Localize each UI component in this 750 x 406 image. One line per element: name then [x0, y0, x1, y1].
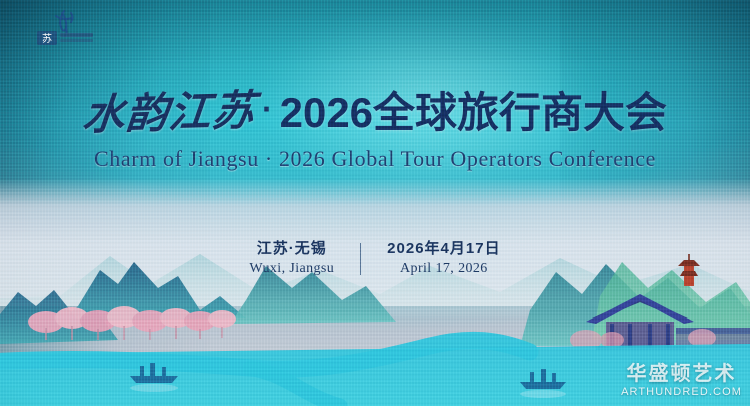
location-block: 江苏·无锡 Wuxi, Jiangsu: [249, 240, 334, 278]
event-info-row: 江苏·无锡 Wuxi, Jiangsu 2026年4月17日 April 17,…: [0, 240, 750, 278]
logo-seal: 苏: [37, 31, 57, 45]
location-cn: 江苏·无锡: [249, 240, 334, 259]
location-en: Wuxi, Jiangsu: [249, 260, 334, 278]
headline-block: 水韵江苏 · 2026全球旅行商大会 Charm of Jiangsu · 20…: [0, 92, 750, 172]
main-title-row: 水韵江苏 · 2026全球旅行商大会: [0, 92, 750, 134]
jiangsu-tourism-logo: 苏: [31, 7, 97, 49]
date-block: 2026年4月17日 April 17, 2026: [387, 240, 500, 278]
info-divider: [360, 243, 361, 275]
date-en: April 17, 2026: [387, 260, 500, 278]
title-main-text: 2026全球旅行商大会: [280, 92, 667, 134]
logo-brush-mark: [56, 11, 73, 36]
title-brush-calligraphy: 水韵江苏: [81, 90, 258, 137]
date-cn: 2026年4月17日: [387, 240, 500, 259]
title-separator-dot: ·: [262, 93, 273, 125]
logo-tagline: [60, 33, 93, 42]
svg-text:苏: 苏: [42, 32, 52, 45]
subtitle-english: Charm of Jiangsu · 2026 Global Tour Oper…: [0, 146, 750, 172]
conference-backdrop-photo: 苏 水韵江苏 · 2026全球旅行商大会 Charm of Jiangsu · …: [0, 0, 750, 406]
